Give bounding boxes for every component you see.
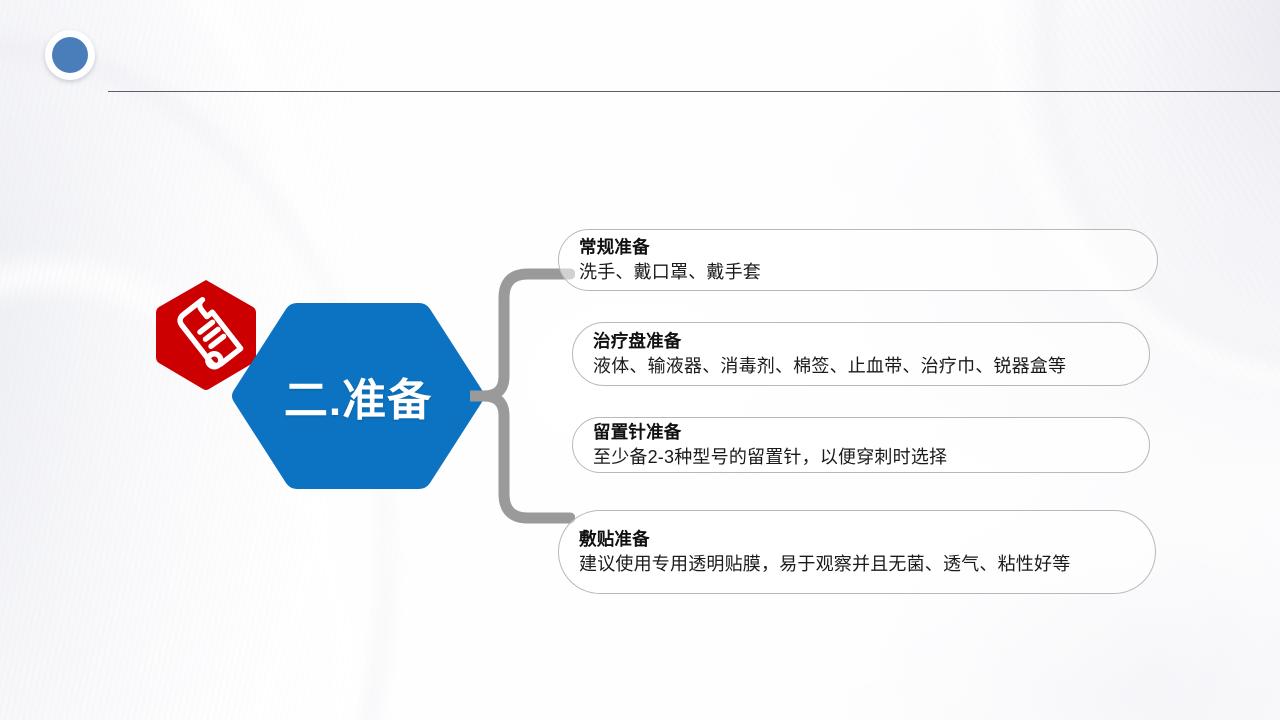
header-divider [108, 91, 1280, 92]
brace-connector [470, 236, 575, 556]
main-hexagon[interactable] [230, 298, 486, 494]
callout-body: 洗手、戴口罩、戴手套 [579, 260, 1135, 284]
callout-box-2[interactable]: 治疗盘准备 液体、输液器、消毒剂、棉签、止血带、治疗巾、锐器盒等 [572, 322, 1150, 386]
brace-upper-arm [472, 274, 570, 396]
main-hexagon-shape [232, 303, 484, 489]
callout-box-4[interactable]: 敷贴准备 建议使用专用透明贴膜，易于观察并且无菌、透气、粘性好等 [558, 510, 1156, 594]
slide-canvas: 二.准备 常规准备 洗手、戴口罩、戴手套 治疗盘准备 液体、输液器、消毒剂、棉签… [0, 0, 1280, 720]
callout-title: 治疗盘准备 [593, 330, 1127, 354]
callout-box-1[interactable]: 常规准备 洗手、戴口罩、戴手套 [558, 229, 1158, 291]
callout-box-3[interactable]: 留置针准备 至少备2-3种型号的留置针，以便穿刺时选择 [572, 417, 1150, 473]
header-bullet-icon [45, 30, 95, 80]
callout-body: 液体、输液器、消毒剂、棉签、止血带、治疗巾、锐器盒等 [593, 354, 1127, 378]
callout-title: 留置针准备 [593, 421, 1127, 445]
callout-body: 至少备2-3种型号的留置针，以便穿刺时选择 [593, 445, 1127, 469]
callout-title: 常规准备 [579, 236, 1135, 260]
background-curve-5 [1040, 0, 1280, 368]
callout-title: 敷贴准备 [579, 528, 1133, 552]
callout-body: 建议使用专用透明贴膜，易于观察并且无菌、透气、粘性好等 [579, 552, 1133, 576]
brace-lower-arm [472, 396, 570, 518]
